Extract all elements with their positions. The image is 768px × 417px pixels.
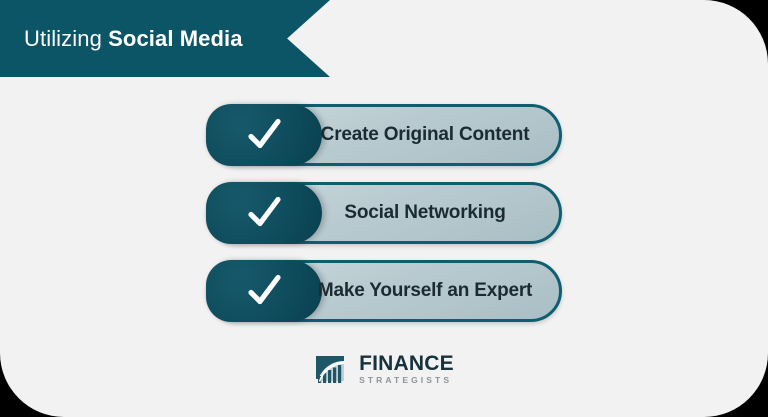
header-banner: Utilizing Social Media bbox=[0, 0, 330, 77]
page-title-regular: Utilizing bbox=[24, 26, 102, 51]
poster: Utilizing Social Media Create Original C… bbox=[0, 0, 768, 417]
list-item-label: Social Networking bbox=[209, 202, 559, 224]
page-title-strong: Social Media bbox=[108, 26, 242, 51]
brand-logo: FINANCE STRATEGISTS bbox=[0, 352, 768, 386]
page-title: Utilizing Social Media bbox=[24, 26, 243, 52]
list-item[interactable]: Social Networking bbox=[206, 182, 562, 244]
logo-text: FINANCE STRATEGISTS bbox=[359, 353, 454, 385]
list-item-label: Make Yourself an Expert bbox=[209, 280, 559, 302]
list-item[interactable]: Create Original Content bbox=[206, 104, 562, 166]
finance-strategists-chart-mark-icon bbox=[314, 352, 352, 386]
list-item[interactable]: Make Yourself an Expert bbox=[206, 260, 562, 322]
logo-subtitle: STRATEGISTS bbox=[359, 376, 454, 385]
content-card: Utilizing Social Media Create Original C… bbox=[0, 0, 768, 417]
checklist: Create Original Content Social Networkin… bbox=[0, 104, 768, 322]
logo-name: FINANCE bbox=[359, 353, 454, 374]
list-item-label: Create Original Content bbox=[209, 124, 559, 146]
